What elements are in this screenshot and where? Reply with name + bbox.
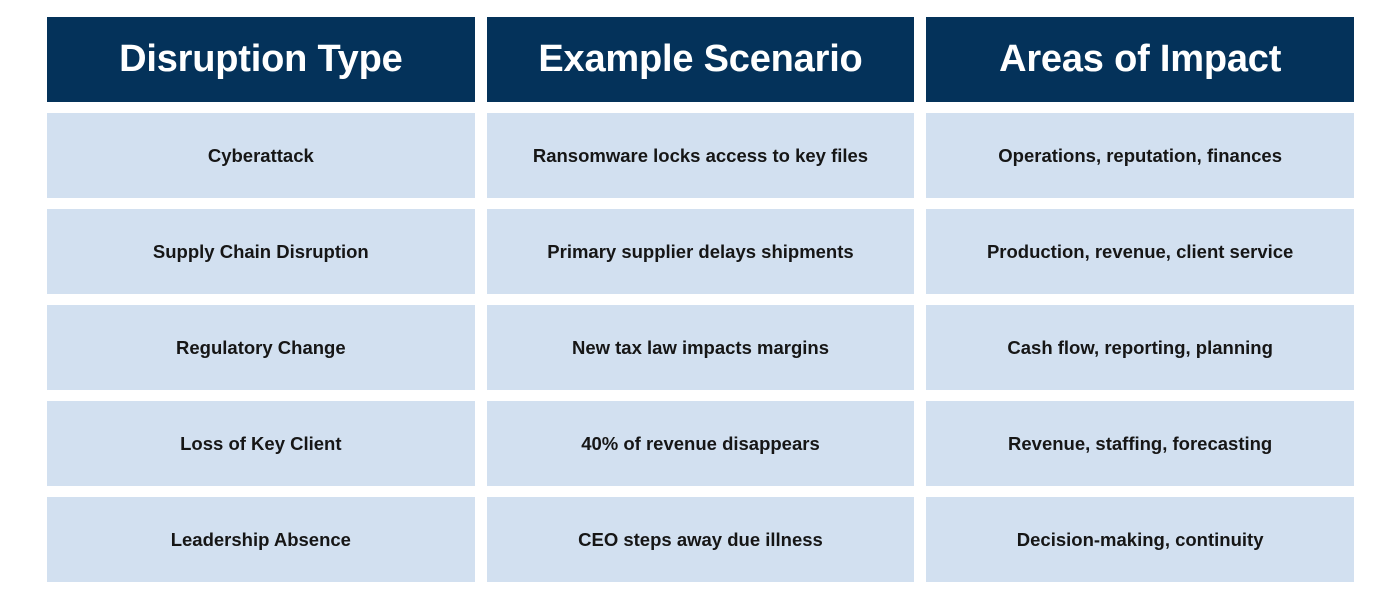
disruption-table: Disruption Type Example Scenario Areas o… xyxy=(47,17,1354,593)
table-row: Regulatory Change New tax law impacts ma… xyxy=(47,305,1354,390)
cell-example-scenario: CEO steps away due illness xyxy=(487,497,915,582)
cell-areas-of-impact: Revenue, staffing, forecasting xyxy=(926,401,1354,486)
cell-areas-of-impact: Production, revenue, client service xyxy=(926,209,1354,294)
cell-disruption-type: Cyberattack xyxy=(47,113,475,198)
cell-disruption-type: Leadership Absence xyxy=(47,497,475,582)
column-header-areas-of-impact: Areas of Impact xyxy=(926,17,1354,102)
table-row: Supply Chain Disruption Primary supplier… xyxy=(47,209,1354,294)
cell-areas-of-impact: Operations, reputation, finances xyxy=(926,113,1354,198)
table-row: Cyberattack Ransomware locks access to k… xyxy=(47,113,1354,198)
table-row: Leadership Absence CEO steps away due il… xyxy=(47,497,1354,582)
cell-disruption-type: Loss of Key Client xyxy=(47,401,475,486)
cell-example-scenario: Primary supplier delays shipments xyxy=(487,209,915,294)
cell-areas-of-impact: Cash flow, reporting, planning xyxy=(926,305,1354,390)
column-header-disruption-type: Disruption Type xyxy=(47,17,475,102)
cell-disruption-type: Regulatory Change xyxy=(47,305,475,390)
column-header-example-scenario: Example Scenario xyxy=(487,17,915,102)
table-row: Loss of Key Client 40% of revenue disapp… xyxy=(47,401,1354,486)
table-header-row: Disruption Type Example Scenario Areas o… xyxy=(47,17,1354,102)
cell-disruption-type: Supply Chain Disruption xyxy=(47,209,475,294)
cell-areas-of-impact: Decision-making, continuity xyxy=(926,497,1354,582)
cell-example-scenario: Ransomware locks access to key files xyxy=(487,113,915,198)
cell-example-scenario: New tax law impacts margins xyxy=(487,305,915,390)
cell-example-scenario: 40% of revenue disappears xyxy=(487,401,915,486)
